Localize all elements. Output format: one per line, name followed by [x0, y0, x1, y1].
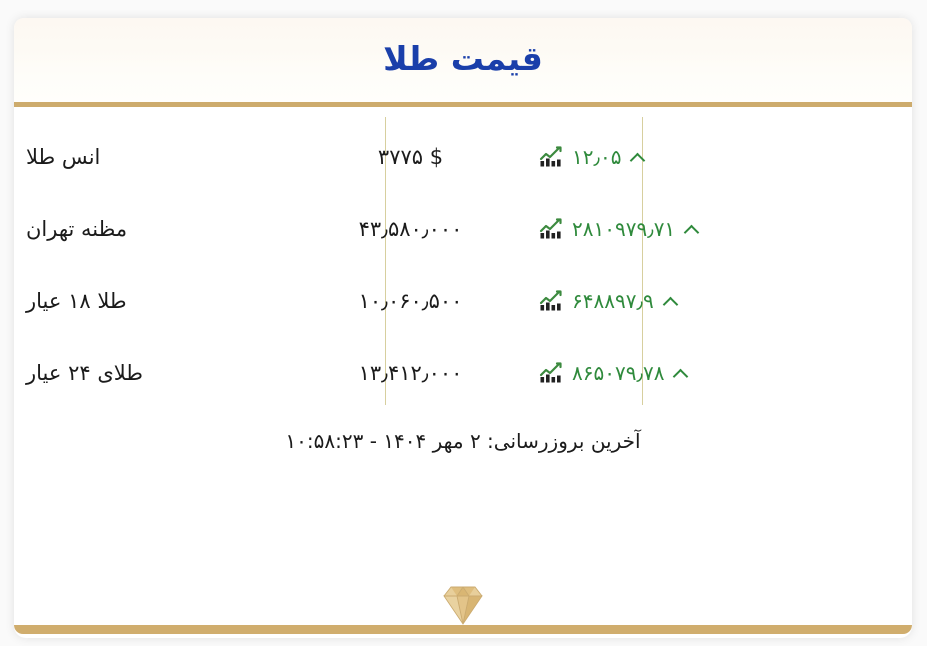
table-row[interactable]: ۲۸۱۰۹۷۹٫۷۱ ۴۳٫۵۸۰٫۰۰۰ مظنه تهران [14, 193, 912, 265]
chart-trend-icon [539, 362, 563, 384]
change-value: ۲۸۱۰۹۷۹٫۷۱ [572, 217, 675, 241]
row-change-cell: ۱۲٫۰۵ [539, 145, 898, 169]
row-label: مظنه تهران [14, 217, 282, 241]
row-price: ۱۳٫۴۱۲٫۰۰۰ [282, 361, 539, 385]
change-value: ۱۲٫۰۵ [572, 145, 621, 169]
change-value: ۶۴۸۸۹۷٫۹ [572, 289, 654, 313]
table-row[interactable]: ۶۴۸۸۹۷٫۹ ۱۰٫۰۶۰٫۵۰۰ طلا ۱۸ عیار [14, 265, 912, 337]
diamond-icon [432, 584, 494, 628]
row-change-cell: ۲۸۱۰۹۷۹٫۷۱ [539, 217, 898, 241]
card-body: ۱۲٫۰۵ ۳۷۷۵ $ انس طلا [14, 107, 912, 634]
page-title: قیمت طلا [383, 42, 543, 79]
arrow-up-icon [630, 149, 646, 165]
row-label: طلای ۲۴ عیار [14, 361, 282, 385]
row-label: طلا ۱۸ عیار [14, 289, 282, 313]
chart-trend-icon [539, 290, 563, 312]
arrow-up-icon [684, 221, 700, 237]
row-price: ۱۰٫۰۶۰٫۵۰۰ [282, 289, 539, 313]
row-change-cell: ۶۴۸۸۹۷٫۹ [539, 289, 898, 313]
chart-trend-icon [539, 146, 563, 168]
change-value: ۸۶۵۰۷۹٫۷۸ [572, 361, 664, 385]
table-row[interactable]: ۸۶۵۰۷۹٫۷۸ ۱۳٫۴۱۲٫۰۰۰ طلای ۲۴ عیار [14, 337, 912, 409]
page-root: قیمت طلا ۱۲٫ [0, 0, 927, 646]
table-row[interactable]: ۱۲٫۰۵ ۳۷۷۵ $ انس طلا [14, 121, 912, 193]
rates-table: ۱۲٫۰۵ ۳۷۷۵ $ انس طلا [14, 107, 912, 409]
last-updated-text: آخرین بروزرسانی: ۲ مهر ۱۴۰۴ - ۱۰:۵۸:۲۳ [14, 429, 912, 453]
chart-trend-icon [539, 218, 563, 240]
card-header: قیمت طلا [14, 18, 912, 102]
gold-price-card: قیمت طلا ۱۲٫ [14, 18, 912, 638]
arrow-up-icon [673, 365, 689, 381]
row-change-cell: ۸۶۵۰۷۹٫۷۸ [539, 361, 898, 385]
row-label: انس طلا [14, 145, 282, 169]
arrow-up-icon [663, 293, 679, 309]
row-price: ۳۷۷۵ $ [282, 145, 539, 169]
row-price: ۴۳٫۵۸۰٫۰۰۰ [282, 217, 539, 241]
